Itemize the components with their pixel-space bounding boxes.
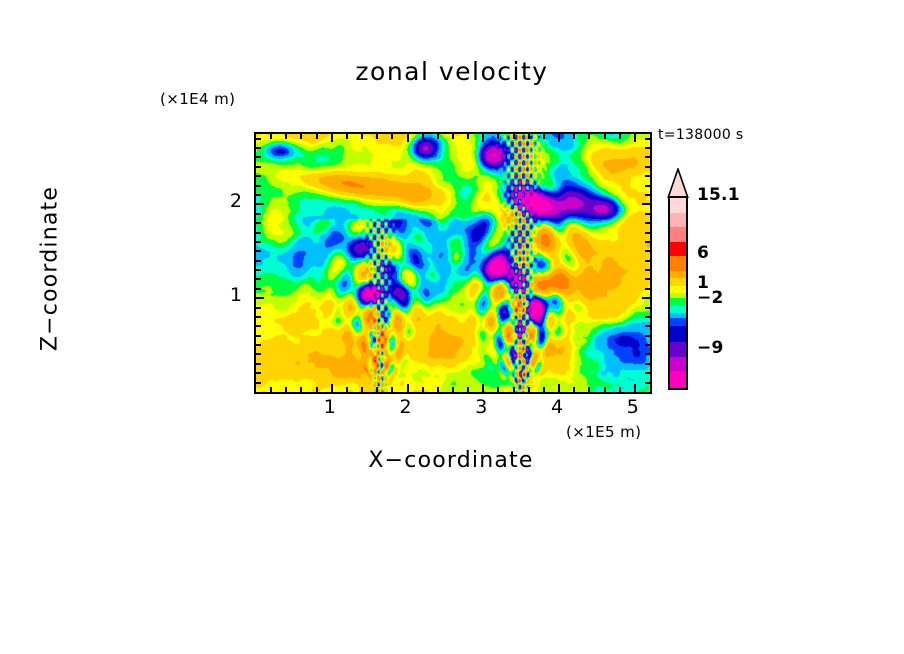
y-axis-tick bbox=[256, 278, 261, 280]
x-tick-label: 1 bbox=[310, 396, 350, 418]
colorbar[interactable] bbox=[663, 168, 693, 390]
x-tick-label: 3 bbox=[461, 396, 501, 418]
y-axis-tick bbox=[645, 307, 650, 309]
colorbar-band bbox=[670, 242, 686, 257]
colorbar-band bbox=[670, 256, 686, 271]
y-axis-tick bbox=[256, 156, 261, 158]
y-axis-tick bbox=[256, 297, 264, 299]
colorbar-band bbox=[670, 213, 686, 228]
y-axis-tick bbox=[256, 138, 261, 140]
y-axis-tick bbox=[642, 203, 650, 205]
y-axis-tick bbox=[256, 260, 261, 262]
colorbar-label: 15.1 bbox=[697, 185, 740, 205]
y-axis-tick bbox=[645, 344, 650, 346]
y-axis-tick bbox=[256, 232, 261, 234]
y-axis-tick bbox=[256, 175, 261, 177]
figure-canvas: zonal velocity (×1E4 m) 12345 12 (×1E5 m… bbox=[0, 0, 904, 654]
y-axis-tick bbox=[256, 250, 261, 252]
y-axis-tick bbox=[256, 382, 261, 384]
y-axis-title: Z−coordinate bbox=[38, 159, 63, 379]
colorbar-band bbox=[670, 326, 686, 342]
y-axis-tick bbox=[645, 288, 650, 290]
y-axis-tick bbox=[256, 335, 261, 337]
y-axis-tick bbox=[645, 316, 650, 318]
y-axis-tick bbox=[256, 344, 261, 346]
y-axis-tick-layer bbox=[256, 134, 650, 392]
y-axis-tick bbox=[645, 260, 650, 262]
y-axis-tick bbox=[645, 250, 650, 252]
y-axis-tick bbox=[256, 203, 264, 205]
y-axis-tick bbox=[256, 213, 261, 215]
y-axis-tick bbox=[256, 147, 261, 149]
y-axis-tick bbox=[645, 213, 650, 215]
colorbar-band bbox=[670, 342, 686, 357]
y-axis-tick bbox=[256, 166, 261, 168]
y-axis-tick bbox=[645, 147, 650, 149]
y-axis-tick bbox=[256, 288, 261, 290]
colorbar-band bbox=[670, 286, 686, 293]
y-axis-tick bbox=[256, 194, 261, 196]
y-axis-tick bbox=[645, 166, 650, 168]
y-tick-label: 1 bbox=[202, 284, 242, 306]
colorbar-band bbox=[670, 227, 686, 242]
y-axis-tick bbox=[256, 185, 261, 187]
colorbar-label: −2 bbox=[697, 288, 723, 308]
y-axis-unit-label: (×1E4 m) bbox=[160, 90, 235, 108]
colorbar-band bbox=[670, 271, 686, 278]
y-axis-tick bbox=[256, 222, 261, 224]
y-axis-tick bbox=[645, 222, 650, 224]
y-axis-tick bbox=[645, 156, 650, 158]
y-axis-tick bbox=[645, 372, 650, 374]
colorbar-band bbox=[670, 371, 686, 387]
y-axis-tick bbox=[645, 241, 650, 243]
colorbar-label: 6 bbox=[697, 243, 709, 263]
colorbar-label: −9 bbox=[697, 338, 723, 358]
colorbar-band bbox=[670, 278, 686, 285]
colorbar-band bbox=[670, 306, 686, 313]
simulation-timestamp: t=138000 s bbox=[658, 127, 743, 143]
colorbar-band bbox=[670, 318, 686, 325]
y-axis-tick bbox=[645, 335, 650, 337]
y-tick-label: 2 bbox=[202, 190, 242, 212]
x-tick-label: 4 bbox=[537, 396, 577, 418]
colorbar-band-stack bbox=[668, 196, 688, 390]
y-axis-tick bbox=[256, 353, 261, 355]
y-axis-tick bbox=[256, 372, 261, 374]
y-axis-tick bbox=[642, 297, 650, 299]
y-axis-tick bbox=[645, 382, 650, 384]
y-axis-tick bbox=[645, 185, 650, 187]
y-axis-tick bbox=[645, 269, 650, 271]
y-axis-tick bbox=[645, 194, 650, 196]
y-axis-tick bbox=[645, 232, 650, 234]
colorbar-band bbox=[670, 198, 686, 213]
y-axis-tick bbox=[256, 241, 261, 243]
y-axis-tick bbox=[645, 363, 650, 365]
y-axis-tick bbox=[645, 353, 650, 355]
y-axis-tick bbox=[256, 269, 261, 271]
y-axis-tick bbox=[645, 325, 650, 327]
y-axis-tick bbox=[645, 138, 650, 140]
colorbar-arrow-cap bbox=[663, 168, 693, 198]
y-axis-tick bbox=[645, 175, 650, 177]
x-axis-unit-label: (×1E5 m) bbox=[566, 423, 641, 441]
x-axis-title: X−coordinate bbox=[254, 448, 648, 473]
colorbar-band bbox=[670, 298, 686, 305]
x-tick-label: 2 bbox=[386, 396, 426, 418]
x-tick-label: 5 bbox=[613, 396, 653, 418]
y-axis-tick bbox=[256, 307, 261, 309]
y-axis-tick bbox=[256, 363, 261, 365]
y-axis-tick bbox=[256, 316, 261, 318]
plot-title: zonal velocity bbox=[0, 57, 904, 86]
y-axis-tick bbox=[256, 325, 261, 327]
contour-plot-area[interactable] bbox=[254, 132, 652, 394]
y-axis-tick bbox=[645, 278, 650, 280]
colorbar-band bbox=[670, 357, 686, 372]
